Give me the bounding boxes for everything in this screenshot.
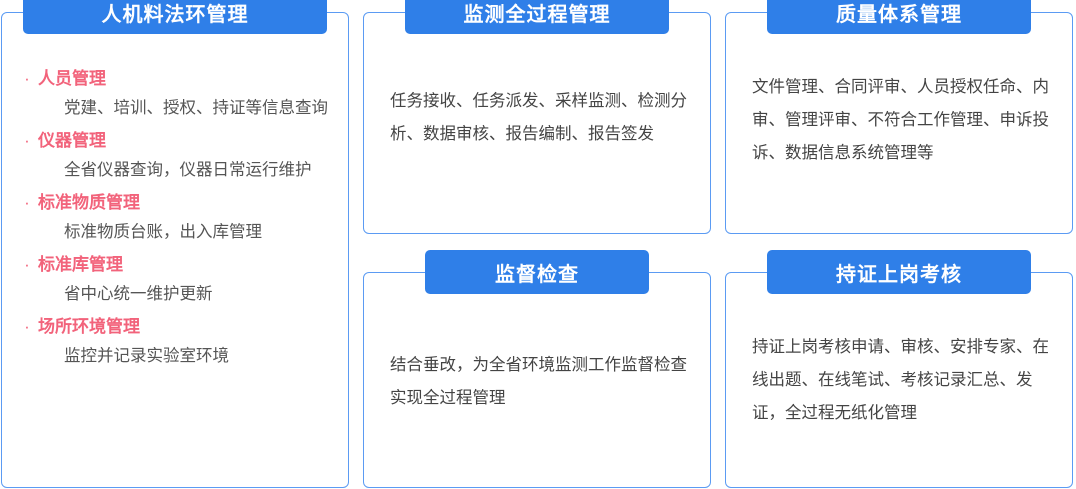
card-personnel-management: 人机料法环管理 · 人员管理 党建、培训、授权、持证等信息查询 · 仪器管理 全… [1,12,349,488]
bullet-icon: · [16,313,38,341]
bullet-icon: · [16,251,38,279]
card-left-title: 人机料法环管理 [23,0,327,34]
list-item-head: · 人员管理 [16,65,334,93]
list-item-title: 标准库管理 [38,251,123,279]
list-item-desc: 省中心统一维护更新 [16,279,334,309]
bullet-icon: · [16,65,38,93]
card-mid-top-body: 任务接收、任务派发、采样监测、检测分析、数据审核、报告编制、报告签发 [390,85,688,151]
list-item-head: · 标准库管理 [16,251,334,279]
list-item-title: 标准物质管理 [38,189,140,217]
list-item-title: 人员管理 [38,65,106,93]
list-item: · 标准库管理 省中心统一维护更新 [16,251,334,309]
card-supervision-inspection: 监督检查 结合垂改，为全省环境监测工作监督检查实现全过程管理 [363,272,711,488]
card-quality-system-management: 质量体系管理 文件管理、合同评审、人员授权任命、内审、管理评审、不符合工作管理、… [725,12,1073,234]
list-item-title: 仪器管理 [38,127,106,155]
list-item-desc: 党建、培训、授权、持证等信息查询 [16,93,334,123]
list-item-head: · 仪器管理 [16,127,334,155]
list-item: · 场所环境管理 监控并记录实验室环境 [16,313,334,371]
card-right-top-body: 文件管理、合同评审、人员授权任命、内审、管理评审、不符合工作管理、申诉投诉、数据… [752,71,1050,170]
list-item-desc: 全省仪器查询，仪器日常运行维护 [16,155,334,185]
bullet-icon: · [16,189,38,217]
list-item: · 标准物质管理 标准物质台账，出入库管理 [16,189,334,247]
card-monitoring-process-management: 监测全过程管理 任务接收、任务派发、采样监测、检测分析、数据审核、报告编制、报告… [363,12,711,234]
card-right-bottom-title: 持证上岗考核 [767,250,1031,294]
list-item: · 人员管理 党建、培训、授权、持证等信息查询 [16,65,334,123]
list-item-head: · 标准物质管理 [16,189,334,217]
list-item-title: 场所环境管理 [38,313,140,341]
card-left-list: · 人员管理 党建、培训、授权、持证等信息查询 · 仪器管理 全省仪器查询，仪器… [2,65,348,375]
list-item-desc: 标准物质台账，出入库管理 [16,217,334,247]
diagram-canvas: 人机料法环管理 · 人员管理 党建、培训、授权、持证等信息查询 · 仪器管理 全… [0,0,1076,489]
card-right-top-title: 质量体系管理 [767,0,1031,34]
list-item: · 仪器管理 全省仪器查询，仪器日常运行维护 [16,127,334,185]
list-item-head: · 场所环境管理 [16,313,334,341]
card-mid-top-title: 监测全过程管理 [405,0,669,34]
card-mid-bottom-title: 监督检查 [425,250,649,294]
list-item-desc: 监控并记录实验室环境 [16,341,334,371]
card-mid-bottom-body: 结合垂改，为全省环境监测工作监督检查实现全过程管理 [390,349,688,415]
card-right-bottom-body: 持证上岗考核申请、审核、安排专家、在线出题、在线笔试、考核记录汇总、发证，全过程… [752,331,1050,430]
bullet-icon: · [16,127,38,155]
card-certification-assessment: 持证上岗考核 持证上岗考核申请、审核、安排专家、在线出题、在线笔试、考核记录汇总… [725,272,1073,488]
